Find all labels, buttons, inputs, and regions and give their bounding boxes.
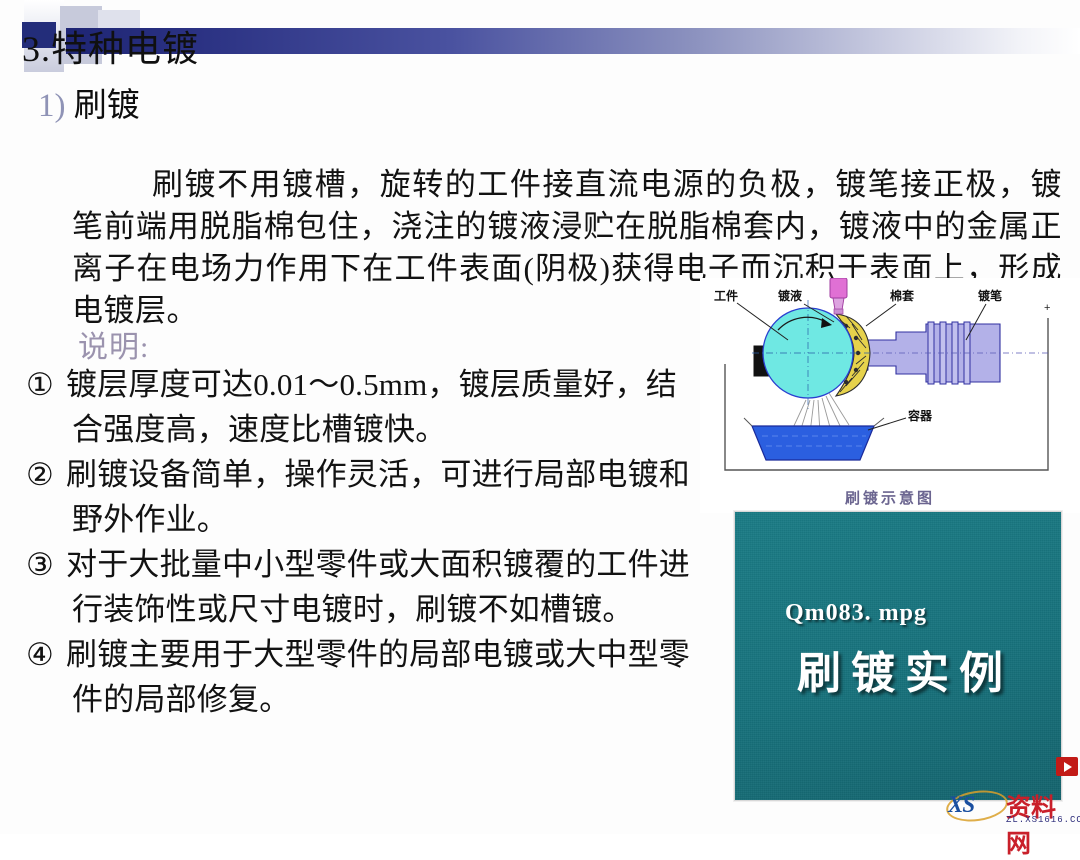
subtitle-marker: 1) [38, 88, 66, 124]
subtitle-label: 刷镀 [74, 88, 140, 124]
page-title: 3.特种电镀 [22, 20, 199, 72]
video-filename: Qm083. mpg [785, 600, 927, 627]
watermark-logo-text: XS [948, 792, 974, 818]
note-label: 说明: [78, 322, 149, 366]
brush-plating-diagram: + [700, 278, 1080, 513]
list-item-text: 刷镀设备简单，操作灵活，可进行局部电镀和野外作业。 [66, 457, 690, 537]
diagram-svg: + [700, 278, 1080, 513]
section-subtitle: 1) 刷镀 [38, 78, 140, 126]
video-title: 刷镀实例 [797, 637, 1013, 701]
diagram-caption: 刷镀示意图 [700, 487, 1080, 508]
play-triangle-icon [1064, 762, 1072, 772]
video-thumbnail[interactable]: Qm083. mpg 刷镀实例 [734, 511, 1062, 801]
list-item: ③对于大批量中小型零件或大面积镀覆的工件进行装饰性或尺寸电镀时，刷镀不如槽镀。 [26, 542, 696, 632]
diagram-label-cotton-sleeve: 棉套 [890, 288, 915, 303]
list-item: ④刷镀主要用于大型零件的局部电镀或大中型零件的局部修复。 [26, 632, 696, 722]
page-title-number: 3. [22, 29, 51, 69]
container-shape [744, 418, 884, 460]
list-item-text: 对于大批量中小型零件或大面积镀覆的工件进行装饰性或尺寸电镀时，刷镀不如槽镀。 [66, 547, 690, 627]
watermark-url: ZL.XS1616.COM [1006, 815, 1080, 825]
slide-header: 3.特种电镀 [0, 0, 1080, 72]
plating-pen-shape [850, 322, 1048, 384]
diagram-label-container: 容器 [907, 408, 933, 423]
page-title-text: 特种电镀 [51, 29, 199, 69]
list-item-text: 镀层厚度可达0.01～0.5mm，镀层质量好，结合强度高，速度比槽镀快。 [66, 367, 677, 447]
diagram-label-plating-pen: 镀笔 [978, 288, 1002, 303]
list-item: ①镀层厚度可达0.01～0.5mm，镀层质量好，结合强度高，速度比槽镀快。 [26, 362, 696, 452]
list-item-marker: ② [26, 452, 66, 497]
list-item-marker: ③ [26, 542, 66, 587]
note-list: ①镀层厚度可达0.01～0.5mm，镀层质量好，结合强度高，速度比槽镀快。 ②刷… [26, 362, 696, 722]
play-button[interactable] [1056, 757, 1078, 776]
list-item-text: 刷镀主要用于大型零件的局部电镀或大中型零件的局部修复。 [66, 637, 690, 717]
diagram-label-plating-solution: 镀液 [778, 288, 802, 303]
plating-nozzle-shape [830, 278, 847, 314]
list-item-marker: ④ [26, 632, 66, 677]
watermark: XS 资料网 ZL.XS1616.COM [948, 788, 1076, 830]
diagram-label-positive: + [1044, 302, 1050, 314]
workpiece-shape [752, 300, 870, 410]
list-item: ②刷镀设备简单，操作灵活，可进行局部电镀和野外作业。 [26, 452, 696, 542]
header-gradient-bar [66, 28, 1080, 54]
list-item-marker: ① [26, 362, 66, 407]
diagram-label-workpiece: 工件 [714, 288, 738, 303]
